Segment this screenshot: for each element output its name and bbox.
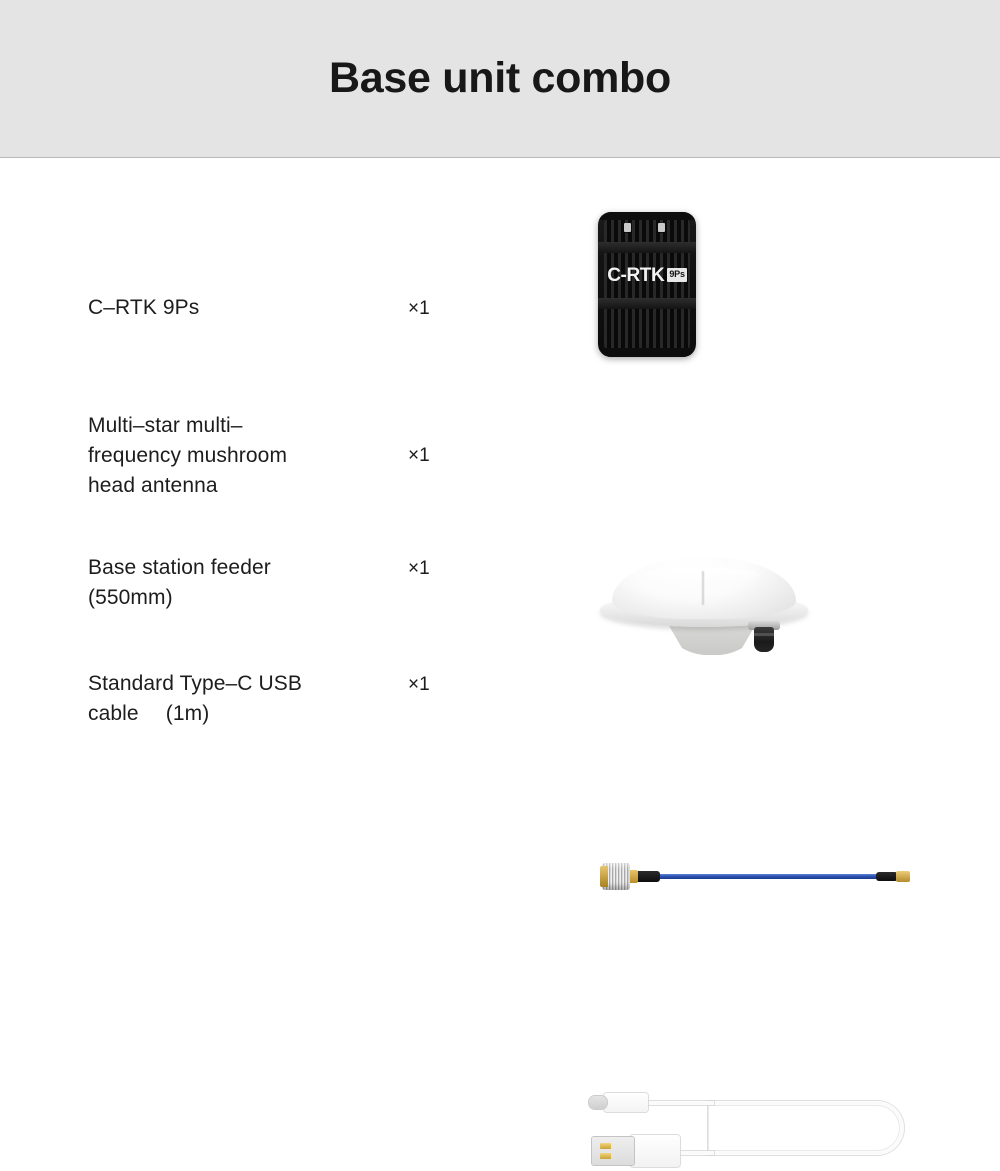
type-c-connector xyxy=(604,1093,648,1112)
feeder-cable-body xyxy=(600,859,918,893)
page-title: Base unit combo xyxy=(329,57,671,100)
list-item: Standard Type–C USB cable (1m) ×1 xyxy=(0,599,1000,749)
usb-a-contact-pin xyxy=(600,1153,611,1159)
feeder-tnc-gold-tip xyxy=(600,866,608,887)
item-quantity: ×1 xyxy=(408,554,430,584)
device-top-cap xyxy=(598,212,696,220)
combo-item-list: C–RTK 9Ps ×1 C-RTK 9Ps Multi–star multi–… xyxy=(0,159,1000,790)
item-label: Standard Type–C USB cable (1m) xyxy=(88,669,388,729)
list-item: Multi–star multi– frequency mushroom hea… xyxy=(0,319,1000,469)
feeder-coax-wire xyxy=(644,874,882,879)
usb-cable-lead-top xyxy=(644,1101,714,1105)
item-quantity: ×1 xyxy=(408,441,430,471)
device-port-icon xyxy=(658,223,665,232)
device-band xyxy=(598,242,696,253)
base-station-feeder-cable-image xyxy=(600,859,918,893)
feeder-sma-connector xyxy=(896,871,910,882)
device-model-badge: 9Ps xyxy=(667,268,686,282)
device-brand-text: C-RTK xyxy=(607,266,664,285)
device-label: C-RTK 9Ps xyxy=(598,254,696,296)
feeder-right-boot xyxy=(876,872,898,881)
usb-a-connector-housing xyxy=(630,1135,680,1167)
type-c-connector-tip xyxy=(589,1096,607,1109)
type-c-usb-cable-image xyxy=(588,1093,918,1171)
usb-a-connector-shell xyxy=(592,1137,634,1165)
list-item: C–RTK 9Ps ×1 C-RTK 9Ps xyxy=(0,159,1000,319)
usb-a-contact-pin xyxy=(600,1143,611,1149)
usb-cable-loop xyxy=(708,1101,904,1155)
usb-cable-body xyxy=(588,1093,918,1171)
list-item: Base station feeder (550mm) ×1 xyxy=(0,469,1000,599)
device-band xyxy=(598,298,696,309)
page-header: Base unit combo xyxy=(0,0,1000,158)
device-port-icon xyxy=(624,223,631,232)
item-quantity: ×1 xyxy=(408,670,430,700)
